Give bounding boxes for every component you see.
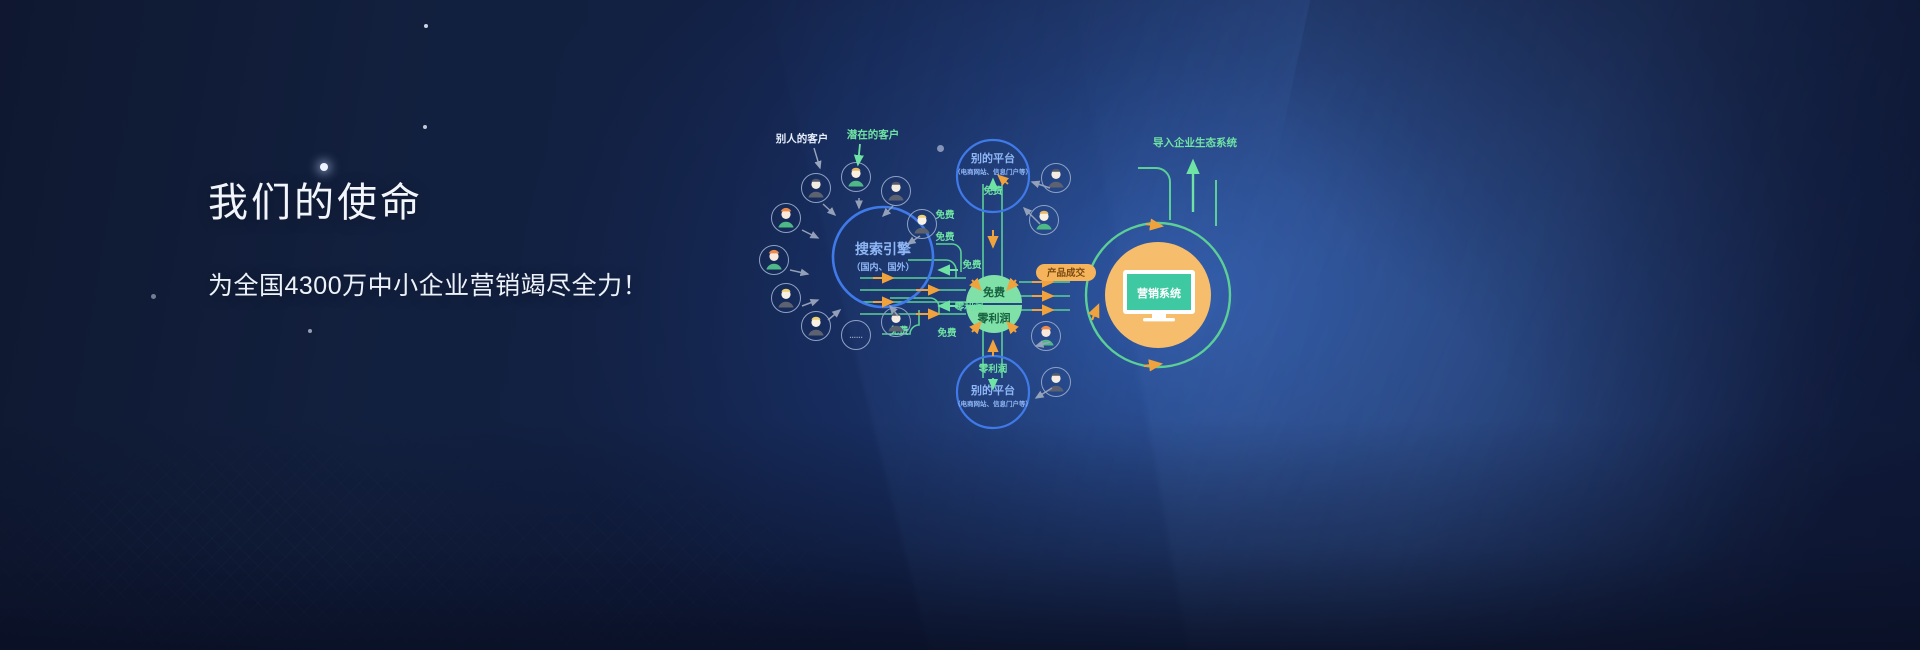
label-free-mid-upper: 免费 [962, 259, 982, 271]
monitor-icon: 营销系统 [1123, 270, 1195, 321]
avatar [802, 174, 831, 203]
label-zero-profit-mid: 零利润 [954, 301, 984, 313]
sparkle-dot [423, 125, 427, 129]
label-free-upper-stub: 免费 [935, 231, 955, 243]
node-other-platform-top [957, 140, 1029, 212]
marketing-ecosystem-diagram: 搜索引擎 （国内、国外） 别的平台 （电商网站、信息门户等） 免费 零利润 别的… [740, 120, 1300, 430]
label-zero-profit-bottom-platform: 零利润 [978, 363, 1008, 375]
label-others-customers: 别人的客户 [775, 132, 829, 145]
avatar [772, 284, 801, 313]
label-free-lower-stub: 免费 [937, 327, 957, 339]
label-free-right-upper: 免费 [935, 209, 955, 221]
sparkle-dot [320, 163, 328, 171]
hero-copy: 我们的使命 为全国4300万中小企业营销竭尽全力！ [208, 178, 648, 302]
search-engine-title: 搜索引擎 [855, 241, 911, 257]
marketing-system-label: 营销系统 [1137, 286, 1181, 300]
hub-top-label: 免费 [983, 285, 1005, 299]
page-title: 我们的使命 [208, 178, 648, 228]
other-platform-top-subtitle: （电商网站、信息门户等） [954, 167, 1032, 176]
hero-banner: 我们的使命 为全国4300万中小企业营销竭尽全力！ [0, 0, 1920, 650]
product-deal-label: 产品成交 [1047, 267, 1086, 279]
sparkle-dot [424, 24, 428, 28]
avatar [1030, 206, 1059, 235]
avatar [1032, 322, 1061, 351]
hero-subtitle: 为全国4300万中小企业营销竭尽全力！ [208, 266, 648, 302]
node-more-customers: ...... [842, 321, 871, 350]
avatar [842, 163, 871, 192]
sparkle-dot [151, 294, 156, 299]
hub-bottom-label: 零利润 [977, 311, 1011, 325]
pill-product-deal: 产品成交 [1036, 264, 1096, 281]
avatar [772, 204, 801, 233]
background-bottom-shadow [0, 420, 1920, 650]
avatar [908, 210, 937, 239]
other-platform-bottom-subtitle: （电商网站、信息门户等） [954, 399, 1032, 408]
avatar [760, 246, 789, 275]
avatar [882, 177, 911, 206]
avatar [1042, 164, 1071, 193]
label-import-ecosystem: 导入企业生态系统 [1153, 136, 1237, 149]
label-potential-customers: 潜在的客户 [847, 128, 900, 141]
sparkle-dot [308, 329, 312, 333]
ellipsis-label: ...... [849, 331, 862, 340]
avatar [802, 312, 831, 341]
other-platform-top-title: 别的平台 [970, 151, 1015, 165]
search-engine-subtitle: （国内、国外） [851, 261, 914, 272]
